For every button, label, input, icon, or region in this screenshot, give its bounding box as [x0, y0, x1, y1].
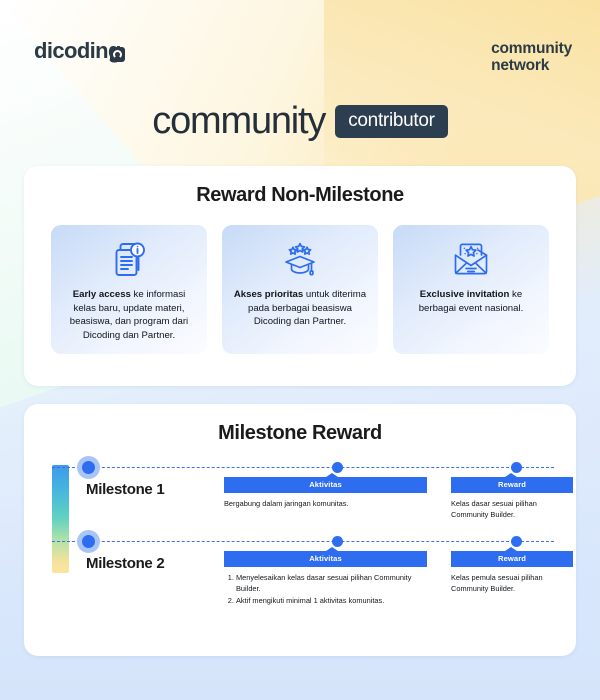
activity-list-item: Menyelesaikan kelas dasar sesuai pilihan…	[236, 572, 427, 594]
activity-list-item: Aktif mengikuti minimal 1 aktivitas komu…	[236, 595, 427, 606]
milestone-dashed-line	[52, 541, 554, 542]
non-milestone-card[interactable]: Early access ke informasi kelas baru, up…	[51, 225, 207, 354]
envelope-star-icon	[451, 238, 491, 282]
document-info-icon	[111, 238, 147, 282]
milestone-reward-block: Reward Kelas dasar sesuai pilihan Commun…	[451, 477, 573, 520]
milestone-timeline: Milestone 1 Aktivitas Bergabung dalam ja…	[24, 451, 576, 641]
header: dicoding community network community con…	[0, 0, 600, 150]
non-milestone-title: Reward Non-Milestone	[24, 166, 576, 207]
milestone-node-icon[interactable]	[77, 456, 100, 479]
activity-description: Menyelesaikan kelas dasar sesuai pilihan…	[224, 572, 427, 606]
banner: community contributor	[0, 100, 600, 143]
milestone-activity-dot-icon	[332, 536, 343, 547]
activity-tab-label: Aktivitas	[224, 477, 427, 493]
dicoding-logo-text: dicoding	[34, 38, 121, 64]
banner-chip: contributor	[335, 105, 447, 138]
activity-tab-label: Aktivitas	[224, 551, 427, 567]
non-milestone-card-text: Akses prioritas untuk diterima pada berb…	[232, 288, 368, 329]
reward-description: Kelas dasar sesuai pilihan Community Bui…	[451, 498, 573, 520]
activity-description: Bergabung dalam jaringan komunitas.	[224, 498, 427, 509]
milestone-label: Milestone 2	[86, 555, 164, 572]
non-milestone-card[interactable]: Akses prioritas untuk diterima pada berb…	[222, 225, 378, 354]
milestone-gradient-bar	[52, 465, 69, 573]
milestone-label: Milestone 1	[86, 481, 164, 498]
non-milestone-card-text: Early access ke informasi kelas baru, up…	[61, 288, 197, 342]
dicoding-mark-icon	[110, 47, 125, 62]
milestone-reward-dot-icon	[511, 462, 522, 473]
reward-description: Kelas pemula sesuai pilihan Community Bu…	[451, 572, 573, 594]
non-milestone-card-text: Exclusive invitation ke berbagai event n…	[403, 288, 539, 315]
non-milestone-card-bold: Early access	[73, 289, 131, 300]
milestone-dashed-line	[52, 467, 554, 468]
non-milestone-card-bold: Exclusive invitation	[420, 289, 510, 300]
milestone-activity-dot-icon	[332, 462, 343, 473]
milestone-reward-block: Reward Kelas pemula sesuai pilihan Commu…	[451, 551, 573, 594]
non-milestone-card[interactable]: Exclusive invitation ke berbagai event n…	[393, 225, 549, 354]
community-network-logo: community network	[491, 40, 572, 75]
community-network-line1: community	[491, 40, 572, 57]
non-milestone-card-list: Early access ke informasi kelas baru, up…	[24, 207, 576, 354]
graduation-cap-stars-icon	[280, 238, 320, 282]
activity-list: Menyelesaikan kelas dasar sesuai pilihan…	[224, 572, 427, 606]
milestone-title: Milestone Reward	[24, 404, 576, 445]
milestone-panel: Milestone Reward Milestone 1 Aktivitas B…	[24, 404, 576, 656]
dicoding-logo: dicoding	[34, 38, 125, 64]
banner-word: community	[152, 100, 325, 143]
milestone-activity-block: Aktivitas Bergabung dalam jaringan komun…	[224, 477, 427, 509]
non-milestone-card-bold: Akses prioritas	[234, 289, 303, 300]
milestone-reward-dot-icon	[511, 536, 522, 547]
community-network-line2: network	[491, 57, 572, 74]
milestone-node-icon[interactable]	[77, 530, 100, 553]
milestone-activity-block: Aktivitas Menyelesaikan kelas dasar sesu…	[224, 551, 427, 607]
non-milestone-panel: Reward Non-Milestone Early access ke in	[24, 166, 576, 386]
reward-tab-label: Reward	[451, 477, 573, 493]
reward-tab-label: Reward	[451, 551, 573, 567]
